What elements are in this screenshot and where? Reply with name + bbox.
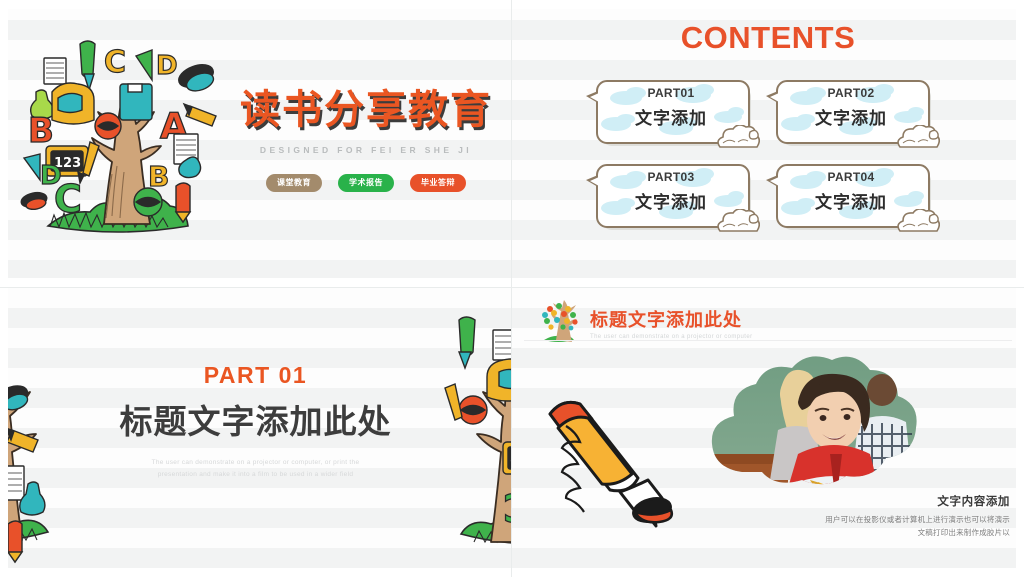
cloud-puff-icon <box>714 125 760 153</box>
slide-edge-bottom <box>0 568 511 577</box>
contents-item-part03[interactable]: PART03 文字添加 <box>596 164 746 224</box>
contents-title: CONTENTS <box>512 20 1024 56</box>
slide-edge-top <box>512 0 1024 9</box>
svg-text:C: C <box>54 177 82 221</box>
contents-part-label: PART01 <box>596 86 746 100</box>
cover-text-block: 读书分享教育 DESIGNED FOR FEI ER SHE JI 课堂教育 学… <box>228 88 504 192</box>
pencil-eraser-illustration <box>528 384 688 534</box>
slide-edge-bottom <box>512 278 1024 287</box>
content-body-block: 文字内容添加 用户可以在投影仪或者计算机上进行演示也可以将演示 文稿打印出来制作… <box>780 493 1010 539</box>
slide-edge-bottom <box>0 278 511 287</box>
svg-text:C: C <box>503 487 512 531</box>
contents-part-label: PART04 <box>776 170 926 184</box>
slide-edge-right <box>1016 0 1024 287</box>
slide-section-divider[interactable]: D A B <box>0 288 512 577</box>
content-body-line1: 用户可以在投影仪或者计算机上进行演示也可以将演示 <box>780 514 1010 526</box>
cloud-puff-icon <box>714 209 760 237</box>
cloud-puff-icon <box>894 209 940 237</box>
slide-edge-right <box>1016 288 1024 577</box>
section-description-line2: presentation and make it into a film to … <box>96 469 415 481</box>
svg-text:D: D <box>156 51 178 81</box>
slide-content[interactable]: 标题文字添加此处 The user can demonstrate on a p… <box>512 288 1024 577</box>
cover-tag-row: 课堂教育 学术报告 毕业答辩 <box>228 174 504 192</box>
contents-item-part02[interactable]: PART02 文字添加 <box>776 80 926 140</box>
content-body-title: 文字内容添加 <box>780 493 1010 509</box>
slide-deck-grid: C D B A 123 <box>0 0 1024 577</box>
classroom-photo-cloud <box>702 342 934 508</box>
section-heading: 标题文字添加此处 <box>96 395 415 443</box>
content-body-line2: 文稿打印出来制作成胶片以 <box>780 527 1010 539</box>
svg-text:B: B <box>28 111 54 151</box>
contents-part-label: PART02 <box>776 86 926 100</box>
contents-bubble-grid: PART01 文字添加 <box>596 80 944 236</box>
page-title: 读书分享教育 <box>228 88 504 133</box>
contents-item-part01[interactable]: PART01 文字添加 <box>596 80 746 140</box>
content-body-text: 用户可以在投影仪或者计算机上进行演示也可以将演示 文稿打印出来制作成胶片以 <box>780 514 1010 539</box>
content-header-text: 标题文字添加此处 The user can demonstrate on a p… <box>590 306 752 340</box>
svg-text:C: C <box>104 45 126 80</box>
content-header-title: 标题文字添加此处 <box>590 306 752 332</box>
contents-item-part04[interactable]: PART04 文字添加 <box>776 164 926 224</box>
cover-subtitle: DESIGNED FOR FEI ER SHE JI <box>228 145 504 155</box>
section-description-line1: The user can demonstrate on a projector … <box>96 457 415 469</box>
education-tree-icon: C D B A 123 <box>8 34 228 258</box>
section-part-label: PART 01 <box>96 362 415 389</box>
tag-classroom-education[interactable]: 课堂教育 <box>266 174 322 192</box>
slide-edge-bottom <box>512 568 1024 577</box>
slide-edge-top <box>0 0 511 9</box>
slide-contents[interactable]: CONTENTS P <box>512 0 1024 288</box>
section-description: The user can demonstrate on a projector … <box>96 457 415 481</box>
slide-edge-left <box>0 288 8 577</box>
contents-part-label: PART03 <box>596 170 746 184</box>
tag-academic-report[interactable]: 学术报告 <box>338 174 394 192</box>
tag-graduation-defense[interactable]: 毕业答辩 <box>410 174 466 192</box>
header-divider <box>524 340 1012 341</box>
cloud-puff-icon <box>894 125 940 153</box>
slide-edge-left <box>0 0 8 287</box>
section-text-block: PART 01 标题文字添加此处 The user can demonstrat… <box>96 362 415 481</box>
slide-cover[interactable]: C D B A 123 <box>0 0 512 288</box>
